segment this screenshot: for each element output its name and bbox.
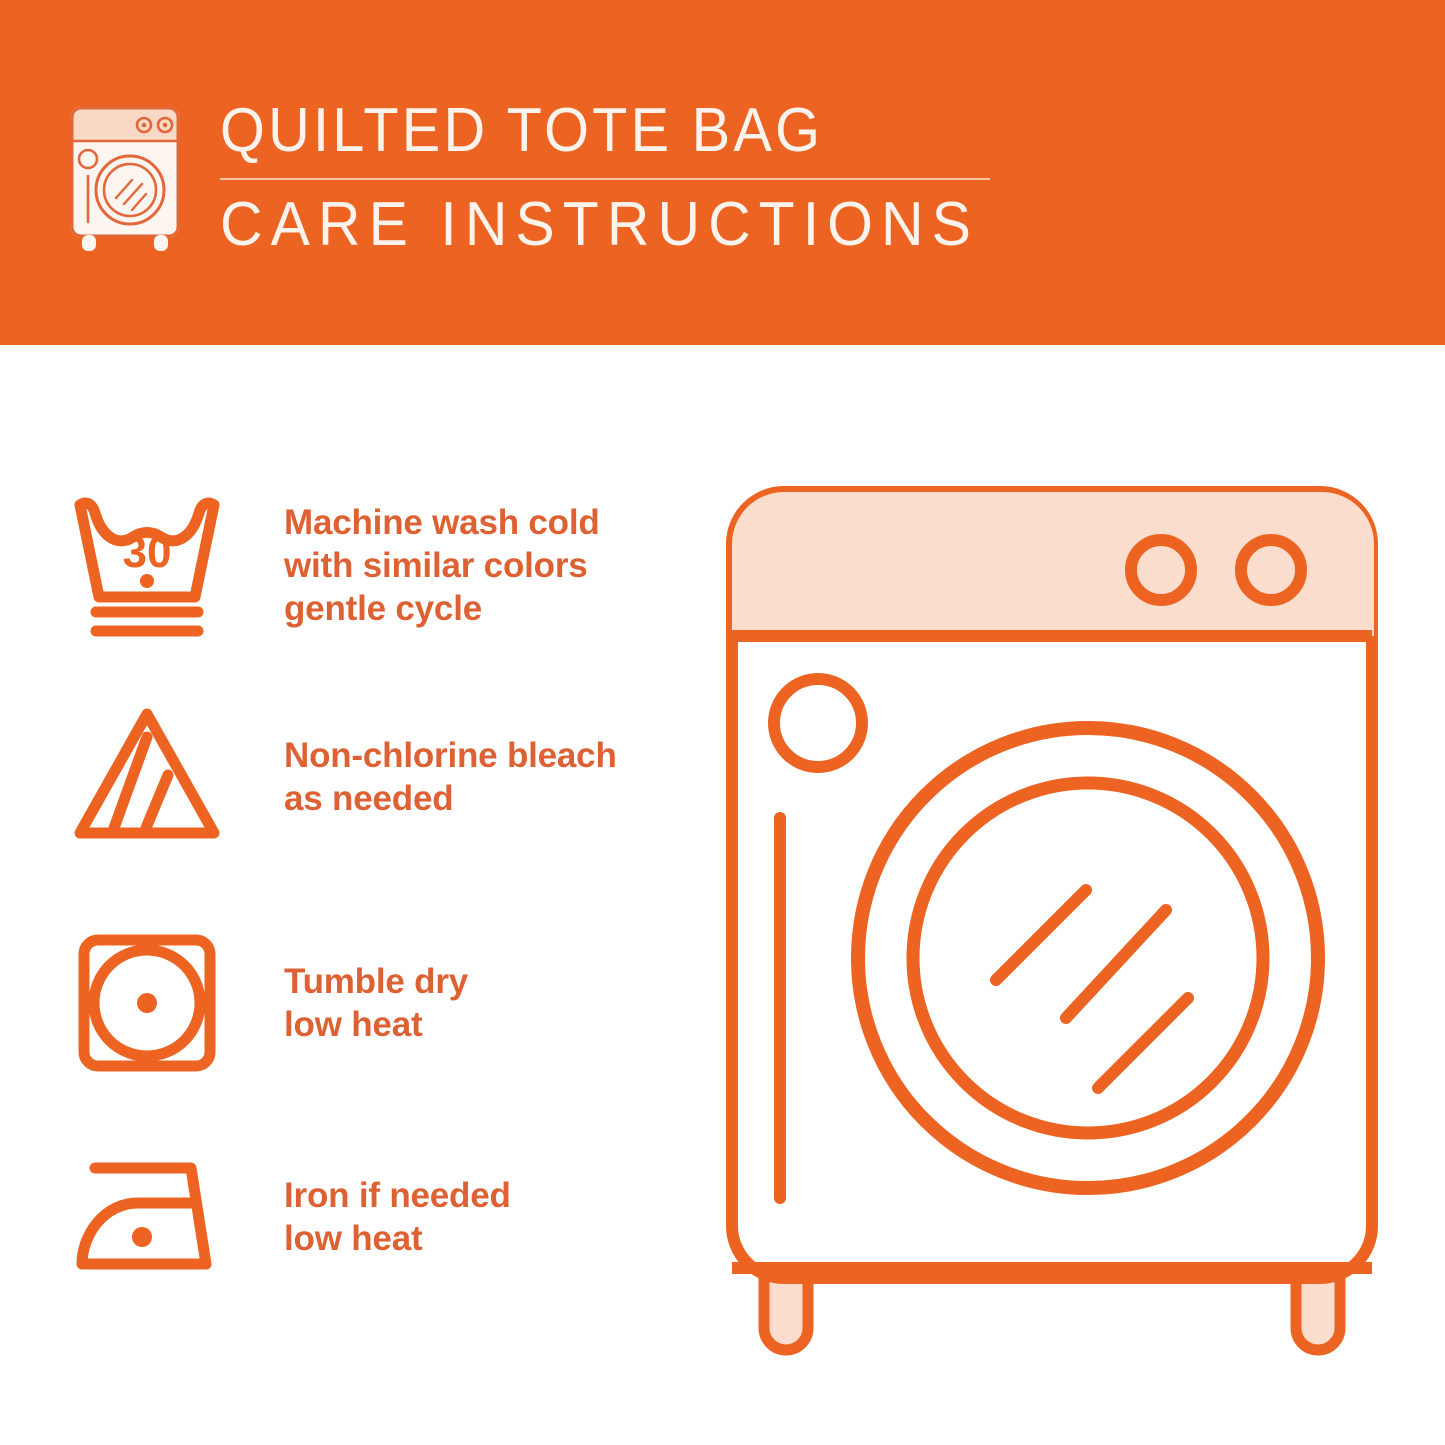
header-band: QUILTED TOTE BAG CARE INSTRUCTIONS [0,0,1445,345]
washing-machine-icon [66,100,184,252]
header-titles: QUILTED TOTE BAG CARE INSTRUCTIONS [220,96,990,258]
title-divider [220,178,990,180]
tumble-dry-low-symbol [62,923,232,1083]
care-instructions-list: 30 Machine wash cold with similar colors… [0,345,700,1445]
header-content: QUILTED TOTE BAG CARE INSTRUCTIONS [66,96,1386,261]
wash-temperature-value: 30 [123,528,172,577]
care-label: Iron if needed low heat [284,1174,682,1260]
page-title: QUILTED TOTE BAG [220,98,936,164]
care-label: Tumble dry low heat [284,960,682,1046]
care-row: 30 Machine wash cold with similar colors… [62,485,682,645]
care-row: Non-chlorine bleach as needed [62,697,682,857]
page-subtitle: CARE INSTRUCTIONS [220,192,952,258]
machine-wash-30-gentle-symbol: 30 [62,485,232,645]
care-label: Machine wash cold with similar colors ge… [284,501,682,630]
care-row: Iron if needed low heat [62,1137,682,1297]
iron-low-heat-symbol [62,1137,232,1297]
front-load-washing-machine-illustration [718,478,1388,1378]
care-label: Non-chlorine bleach as needed [284,734,682,820]
care-instructions-page: QUILTED TOTE BAG CARE INSTRUCTIONS [0,0,1445,1445]
care-row: Tumble dry low heat [62,923,682,1083]
non-chlorine-bleach-symbol [62,697,232,857]
